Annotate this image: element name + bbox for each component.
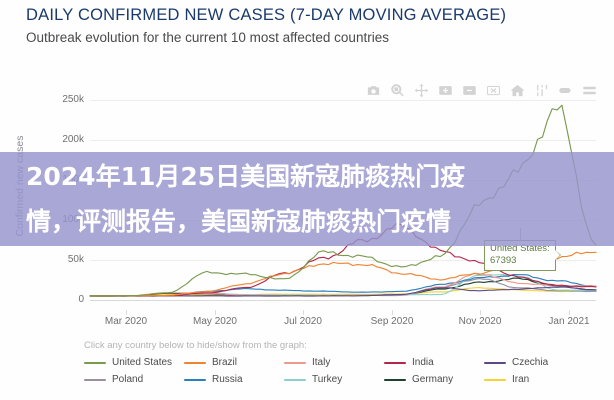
- x-axis-line: [90, 300, 596, 301]
- tooltip-value: 67393: [490, 255, 550, 267]
- legend-label: Iran: [512, 374, 529, 385]
- legend-item-russia[interactable]: Russia: [184, 374, 284, 385]
- legend-row: Poland Russia Turkey Germany Iran: [84, 374, 606, 385]
- y-tick-250k: 250k: [30, 94, 84, 105]
- x-axis-ticks: Mar 2020 May 2020 Jul 2020 Sep 2020 Nov …: [0, 310, 614, 332]
- legend-row: United States Brazil Italy India Czechia: [84, 357, 606, 368]
- legend-swatch-icon: [184, 379, 206, 381]
- x-tick-jan-2021: Jan 2021: [548, 316, 589, 327]
- legend-hint: Click any country below to hide/show fro…: [84, 340, 606, 351]
- legend-swatch-icon: [284, 379, 306, 381]
- legend-swatch-icon: [284, 362, 306, 364]
- legend-label: India: [412, 357, 434, 368]
- x-tick-sep-2020: Sep 2020: [371, 316, 414, 327]
- legend-item-brazil[interactable]: Brazil: [184, 357, 284, 368]
- x-tick-may-2020: May 2020: [193, 316, 237, 327]
- legend-label: Czechia: [512, 357, 548, 368]
- legend-label: Italy: [312, 357, 330, 368]
- y-tick-50k: 50k: [30, 254, 84, 265]
- legend-label: Germany: [412, 374, 453, 385]
- legend-swatch-icon: [84, 362, 106, 364]
- legend-item-poland[interactable]: Poland: [84, 374, 184, 385]
- legend-swatch-icon: [84, 379, 106, 381]
- legend-label: United States: [112, 357, 172, 368]
- legend[interactable]: Click any country below to hide/show fro…: [84, 340, 606, 391]
- page-subtitle: Outbreak evolution for the current 10 mo…: [26, 27, 604, 48]
- legend-label: Poland: [112, 374, 143, 385]
- covid-chart-page: DAILY CONFIRMED NEW CASES (7-DAY MOVING …: [0, 0, 614, 400]
- legend-item-turkey[interactable]: Turkey: [284, 374, 384, 385]
- legend-swatch-icon: [484, 379, 506, 381]
- legend-swatch-icon: [184, 362, 206, 364]
- overlay-line-2: 情，评测报告，美国新寇肺痰热门疫情: [0, 199, 614, 244]
- legend-item-czechia[interactable]: Czechia: [484, 357, 584, 368]
- x-tick-jul-2020: Jul 2020: [284, 316, 322, 327]
- y-tick-0: 0: [30, 294, 84, 305]
- x-tick-nov-2020: Nov 2020: [459, 316, 502, 327]
- chart-header: DAILY CONFIRMED NEW CASES (7-DAY MOVING …: [26, 4, 604, 48]
- legend-swatch-icon: [384, 362, 406, 364]
- legend-item-united-states[interactable]: United States: [84, 357, 184, 368]
- legend-item-india[interactable]: India: [384, 357, 484, 368]
- legend-item-germany[interactable]: Germany: [384, 374, 484, 385]
- legend-label: Brazil: [212, 357, 237, 368]
- legend-item-italy[interactable]: Italy: [284, 357, 384, 368]
- y-tick-200k: 200k: [30, 134, 84, 145]
- x-tick-mar-2020: Mar 2020: [105, 316, 147, 327]
- legend-label: Turkey: [312, 374, 342, 385]
- overlay-banner: 2024年11月25日美国新寇肺痰热门疫 情，评测报告，美国新寇肺痰热门疫情: [0, 152, 614, 246]
- page-title: DAILY CONFIRMED NEW CASES (7-DAY MOVING …: [26, 4, 604, 26]
- overlay-line-1: 2024年11月25日美国新寇肺痰热门疫: [0, 154, 614, 199]
- legend-label: Russia: [212, 374, 243, 385]
- legend-item-iran[interactable]: Iran: [484, 374, 584, 385]
- legend-swatch-icon: [484, 362, 506, 364]
- legend-swatch-icon: [384, 379, 406, 381]
